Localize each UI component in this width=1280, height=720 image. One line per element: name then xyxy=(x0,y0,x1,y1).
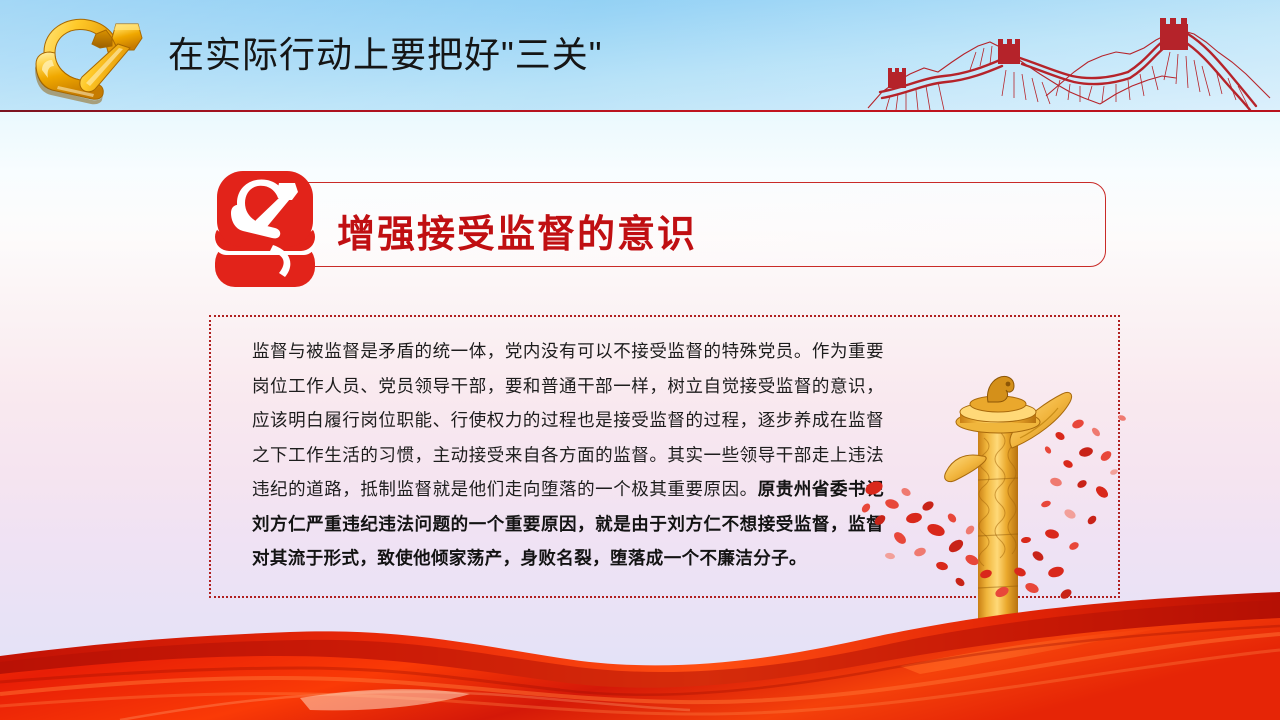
body-plain-text: 监督与被监督是矛盾的统一体，党内没有可以不接受监督的特殊党员。作为重要岗位工作人… xyxy=(252,341,884,499)
party-book-emblem-icon xyxy=(207,167,323,297)
header-divider xyxy=(0,110,1280,112)
page-title: 在实际行动上要把好"三关" xyxy=(168,26,603,78)
header-bar: 在实际行动上要把好"三关" xyxy=(0,0,1280,112)
slide-canvas: 在实际行动上要把好"三关" 增强接受监督的意识 监督与被监督是矛盾的统一体，党内… xyxy=(0,0,1280,720)
section-title: 增强接受监督的意识 xyxy=(337,203,697,258)
body-paragraph: 监督与被监督是矛盾的统一体，党内没有可以不接受监督的特殊党员。作为重要岗位工作人… xyxy=(252,334,884,576)
hammer-and-sickle-emblem-icon xyxy=(18,8,150,106)
great-wall-illustration-icon xyxy=(860,0,1280,112)
